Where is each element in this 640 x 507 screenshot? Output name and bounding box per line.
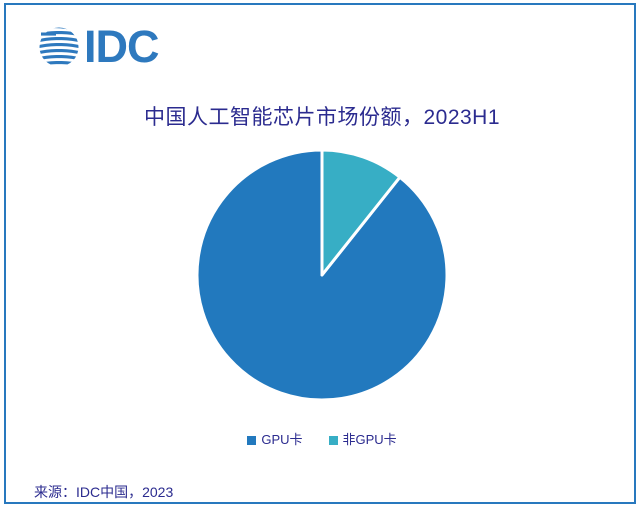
idc-logo: IDC: [36, 23, 159, 71]
legend-square-icon: [329, 436, 338, 445]
legend-item-label: GPU卡: [261, 433, 302, 447]
pie-chart: [6, 145, 638, 425]
idc-globe-icon: [36, 24, 82, 70]
pie-chart-svg: [192, 145, 452, 405]
chart-title: 中国人工智能芯片市场份额，2023H1: [6, 101, 638, 131]
slide-frame-border: IDC 中国人工智能芯片市场份额，2023H1 GPU卡 非GPU卡: [4, 3, 636, 504]
idc-logo-text: IDC: [84, 24, 159, 70]
legend-item-gpu[interactable]: GPU卡: [247, 433, 302, 447]
slide-canvas: IDC 中国人工智能芯片市场份额，2023H1 GPU卡 非GPU卡: [0, 0, 640, 507]
chart-legend: GPU卡 非GPU卡: [6, 433, 638, 447]
legend-item-label: 非GPU卡: [343, 433, 397, 447]
legend-item-non-gpu[interactable]: 非GPU卡: [329, 433, 397, 447]
legend-square-icon: [247, 436, 256, 445]
source-note: 来源：IDC中国，2023: [34, 482, 173, 502]
